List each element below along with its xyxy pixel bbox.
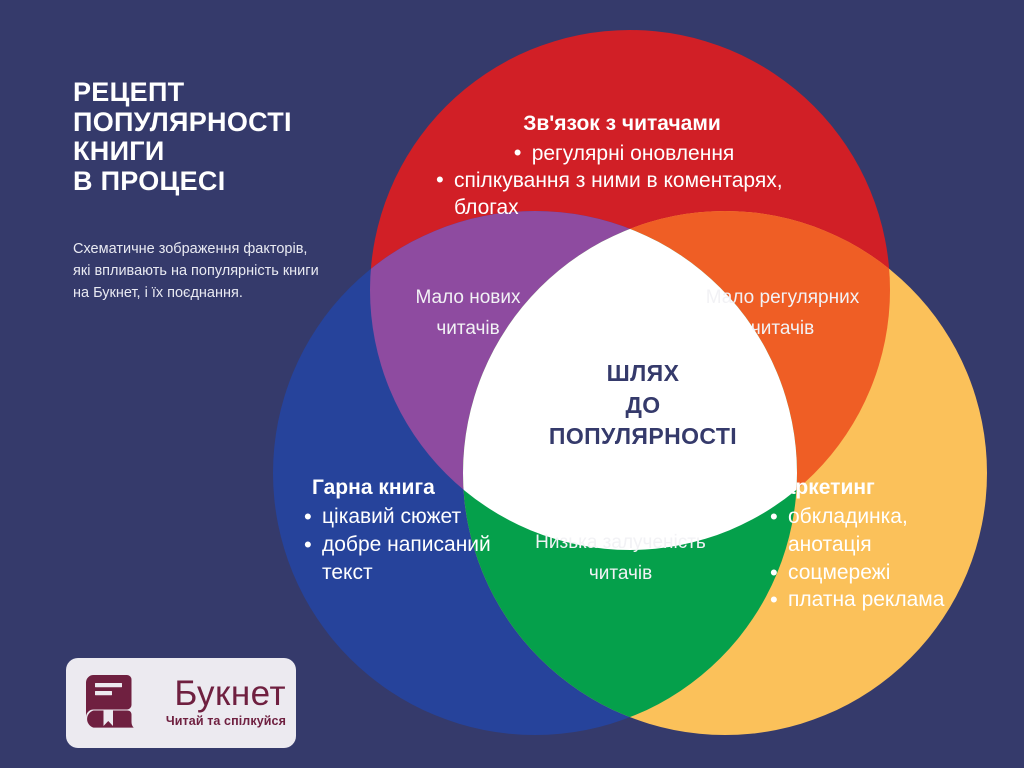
venn-label-book: Гарна книга цікавий сюжет добре написани… (300, 475, 515, 587)
venn-label-marketing-bullets: обкладинка, анотація соцмережі платна ре… (766, 503, 976, 614)
infographic-canvas: РЕЦЕПТ ПОПУЛЯРНОСТІ КНИГИ В ПРОЦЕСІ Схем… (0, 0, 1024, 768)
logo-name: Букнет (174, 676, 286, 711)
buknet-logo[interactable]: Букнет Читай та спілкуйся (66, 658, 296, 748)
venn-overlap-label-blue-yellow: Низька залученість читачів (533, 528, 708, 590)
logo-tagline: Читай та спілкуйся (166, 715, 286, 729)
venn-label-book-bullets: цікавий сюжет добре написаний текст (300, 503, 515, 587)
venn-label-marketing: Маркетинг обкладинка, анотація соцмережі… (766, 475, 976, 614)
venn-label-readers-title: Зв'язок з читачами (432, 112, 812, 137)
venn-label-marketing-title: Маркетинг (766, 475, 976, 500)
venn-label-readers: Зв'язок з читачами регулярні оновлення с… (432, 112, 812, 222)
list-item: соцмережі (766, 559, 976, 587)
list-item: цікавий сюжет (300, 503, 515, 531)
list-item: регулярні оновлення (510, 140, 735, 167)
list-item: платна реклама (766, 586, 976, 614)
venn-overlap-label-red-blue: Мало нових читачів (398, 283, 538, 345)
book-icon (78, 674, 138, 732)
venn-center-label: ШЛЯХ ДО ПОПУЛЯРНОСТІ (528, 358, 758, 453)
list-item: добре написаний текст (300, 531, 515, 587)
venn-label-book-title: Гарна книга (300, 475, 515, 500)
list-item: спілкування з ними в коментарях, блогах (432, 167, 812, 222)
venn-label-readers-bullets: регулярні оновлення спілкування з ними в… (432, 140, 812, 222)
list-item: обкладинка, анотація (766, 503, 976, 558)
logo-wordmark: Букнет Читай та спілкуйся (146, 676, 286, 731)
venn-overlap-label-red-yellow: Мало регулярних читачів (700, 283, 865, 345)
